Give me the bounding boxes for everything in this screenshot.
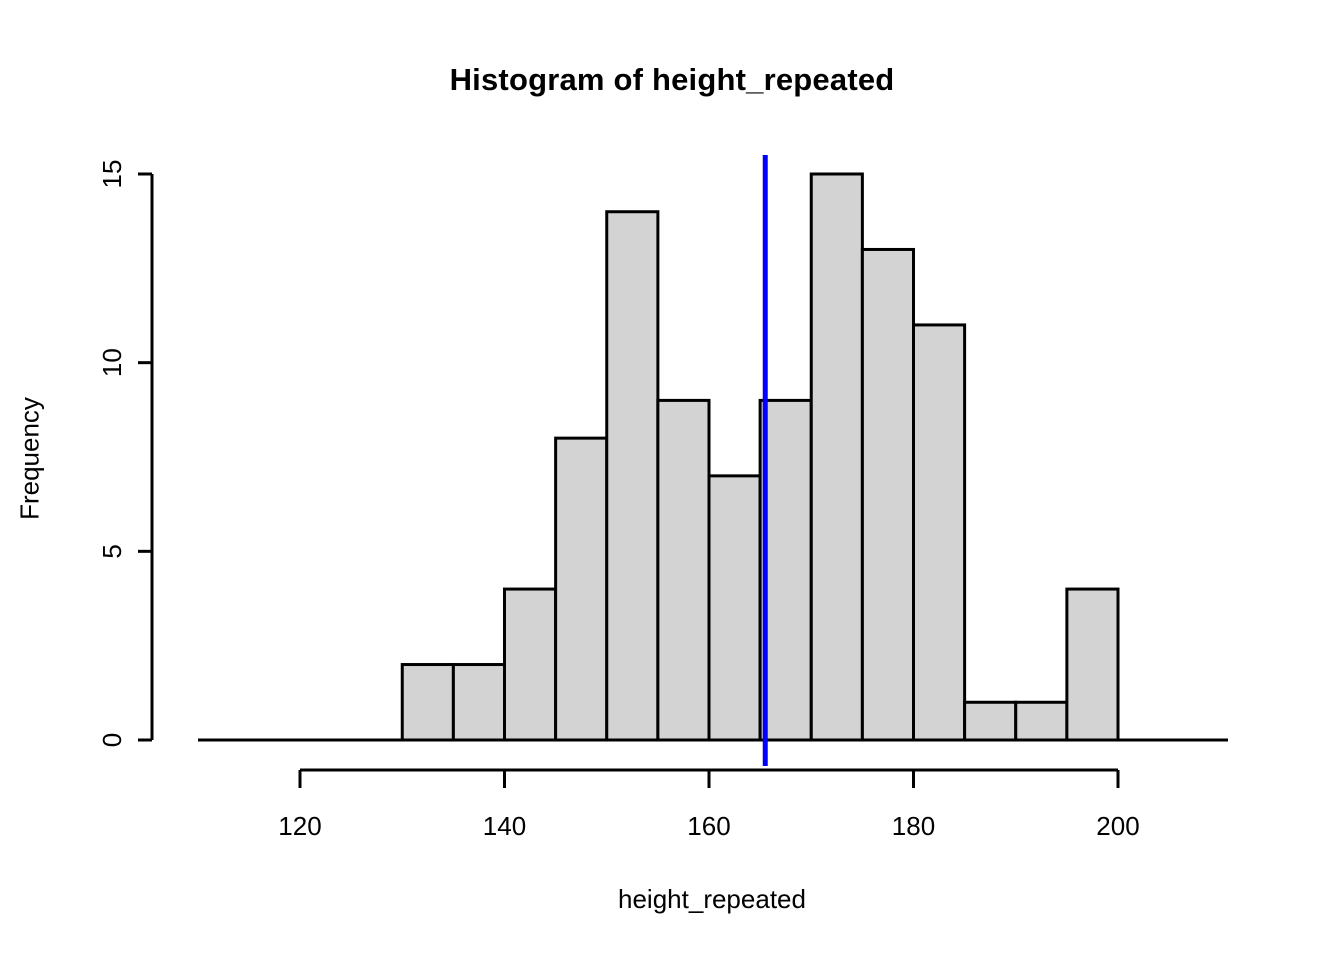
x-axis-tick-label: 180 bbox=[892, 811, 935, 841]
x-axis-tick-label: 160 bbox=[687, 811, 730, 841]
plot-canvas: 051015 120140160180200 bbox=[0, 0, 1344, 960]
histogram-bar bbox=[760, 400, 811, 740]
y-axis-tick-label: 10 bbox=[97, 348, 127, 377]
histogram-bar bbox=[709, 476, 760, 740]
y-axis-tick-label: 5 bbox=[97, 544, 127, 558]
histogram-bar bbox=[1067, 589, 1118, 740]
y-axis-tick-label: 15 bbox=[97, 160, 127, 189]
x-axis-tick-label: 120 bbox=[278, 811, 321, 841]
histogram-bar bbox=[914, 325, 965, 740]
histogram-bar bbox=[658, 400, 709, 740]
x-axis-tick-label: 200 bbox=[1096, 811, 1139, 841]
histogram-bar bbox=[811, 174, 862, 740]
y-axis: 051015 bbox=[97, 160, 152, 748]
histogram-bar bbox=[965, 702, 1016, 740]
y-axis-tick-label: 0 bbox=[97, 733, 127, 747]
x-axis-tick-label: 140 bbox=[483, 811, 526, 841]
histogram-bar bbox=[505, 589, 556, 740]
x-axis: 120140160180200 bbox=[278, 770, 1139, 841]
histogram-bars bbox=[402, 174, 1118, 740]
histogram-bar bbox=[862, 249, 913, 740]
histogram-bar bbox=[556, 438, 607, 740]
r-histogram-plot: Histogram of height_repeated Frequency h… bbox=[0, 0, 1344, 960]
histogram-bar bbox=[607, 212, 658, 740]
histogram-bar bbox=[1016, 702, 1067, 740]
histogram-bar bbox=[453, 665, 504, 740]
histogram-bar bbox=[402, 665, 453, 740]
